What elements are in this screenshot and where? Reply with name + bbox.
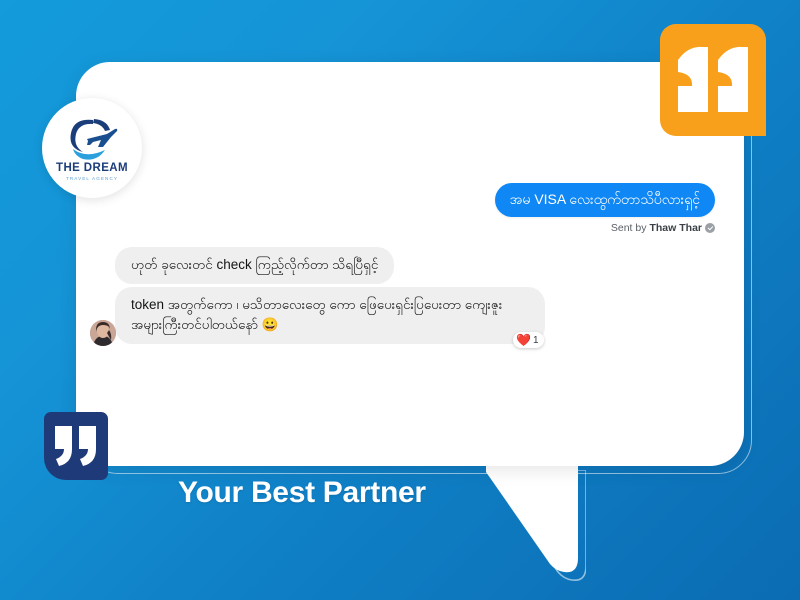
delivered-check-icon (705, 223, 715, 233)
logo-subtitle: TRAVEL AGENCY (66, 176, 118, 181)
speech-bubble-tail (486, 462, 578, 574)
outgoing-message-bubble[interactable]: အမ VISA လေးထွက်တာသိပီလားရှင့် (495, 183, 715, 217)
chat-thread: အမ VISA လေးထွက်တာသိပီလားရှင့် Sent by Th… (76, 62, 744, 466)
user-avatar-photo (90, 320, 116, 346)
brand-logo-badge: THE DREAM TRAVEL AGENCY (42, 98, 142, 198)
closing-quote-icon (660, 24, 766, 136)
sent-by-prefix: Sent by (611, 222, 647, 234)
airplane-swoosh-icon (63, 117, 121, 161)
page-title: Your Best Partner (178, 476, 426, 510)
incoming-message-bubble[interactable]: ဟုတ် ခုလေးတင် check ကြည့်လိုက်တာ သိရပြီရ… (115, 247, 394, 284)
speech-bubble-card: အမ VISA လေးထွက်တာသိပီလားရှင့် Sent by Th… (76, 62, 744, 466)
sent-by-line: Sent by Thaw Thar (495, 222, 715, 234)
incoming-message-bubble[interactable]: token အတွက်ကော ၊ မသိတာလေးတွေ ကော ဖြေပေးရ… (115, 287, 545, 344)
logo-name: THE DREAM (56, 162, 128, 174)
heart-reaction-badge[interactable]: ❤️ 1 (513, 332, 544, 348)
outgoing-message-row: အမ VISA လေးထွက်တာသိပီလားရှင့် Sent by Th… (495, 183, 715, 234)
reaction-count: 1 (533, 335, 539, 346)
sent-by-name: Thaw Thar (649, 222, 702, 234)
opening-quote-icon (44, 412, 108, 480)
heart-reaction-icon: ❤️ (516, 334, 531, 346)
promo-poster: အမ VISA လေးထွက်တာသိပီလားရှင့် Sent by Th… (0, 0, 800, 600)
